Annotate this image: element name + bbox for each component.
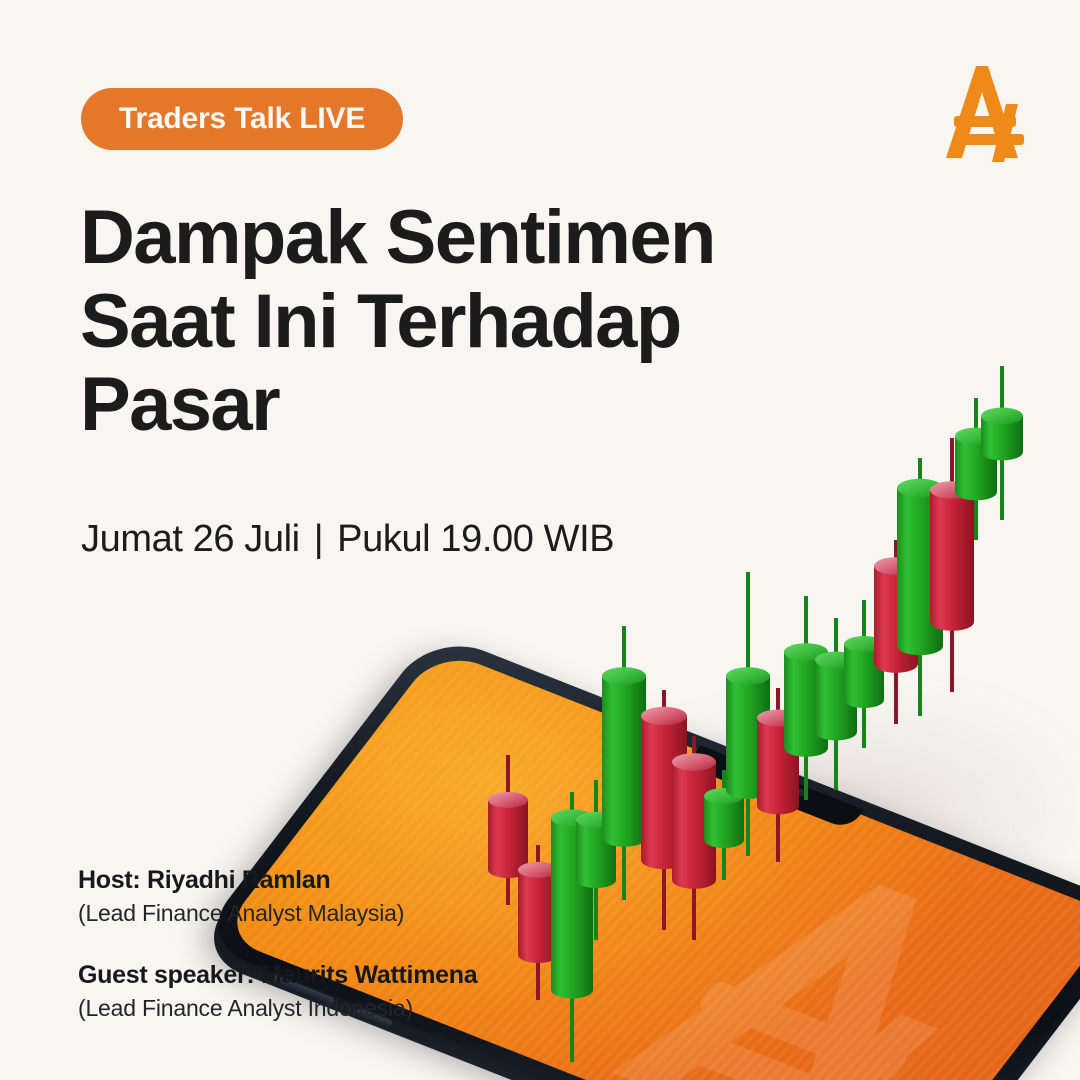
candle-top-cap xyxy=(981,408,1023,425)
credit-host-role: (Lead Finance Analyst Malaysia) xyxy=(78,900,477,927)
credit-host: Host: Riyadhi Ramlan (Lead Finance Analy… xyxy=(78,866,477,927)
candlestick xyxy=(955,398,997,540)
credit-host-name: Host: Riyadhi Ramlan xyxy=(78,866,477,895)
page-title: Dampak Sentimen Saat Ini Terhadap Pasar xyxy=(80,196,780,447)
poster-canvas: Traders Talk LIVE Dampak Sentimen Saat I… xyxy=(0,0,1080,1080)
candle-wick-upper xyxy=(918,458,922,488)
event-time: Pukul 19.00 WIB xyxy=(337,518,614,561)
candle-wick-upper xyxy=(894,540,898,566)
candle-body xyxy=(955,436,997,500)
datetime-separator: | xyxy=(314,518,323,561)
candle-wick-upper xyxy=(974,398,978,436)
live-badge: Traders Talk LIVE xyxy=(81,88,403,150)
candle-body xyxy=(981,416,1023,460)
candle-wick-upper xyxy=(1000,366,1004,416)
live-badge-label: Traders Talk LIVE xyxy=(119,102,365,136)
headline-line-1: Dampak Sentimen xyxy=(80,196,780,280)
event-datetime: Jumat 26 Juli | Pukul 19.00 WIB xyxy=(81,518,614,561)
credit-guest: Guest speaker: Maurits Wattimena (Lead F… xyxy=(78,961,477,1022)
headline-line-3: Pasar xyxy=(80,363,780,447)
speaker-credits: Host: Riyadhi Ramlan (Lead Finance Analy… xyxy=(78,866,477,1022)
headline-line-2: Saat Ini Terhadap xyxy=(80,280,780,364)
candle-top-cap xyxy=(930,481,974,499)
candle-top-cap xyxy=(955,428,997,445)
candle-top-cap xyxy=(897,479,943,497)
candle-wick-lower xyxy=(974,492,978,540)
event-date: Jumat 26 Juli xyxy=(81,518,300,561)
candle-top-cap xyxy=(874,557,918,575)
candle-wick-upper xyxy=(950,438,954,490)
candlestick xyxy=(981,366,1023,520)
logo-a-currency-icon xyxy=(932,58,1032,166)
credit-guest-name: Guest speaker: Maurits Wattimena xyxy=(78,961,477,990)
candle-wick-lower xyxy=(1000,452,1004,520)
credit-guest-role: (Lead Finance Analyst Indonesia) xyxy=(78,995,477,1022)
